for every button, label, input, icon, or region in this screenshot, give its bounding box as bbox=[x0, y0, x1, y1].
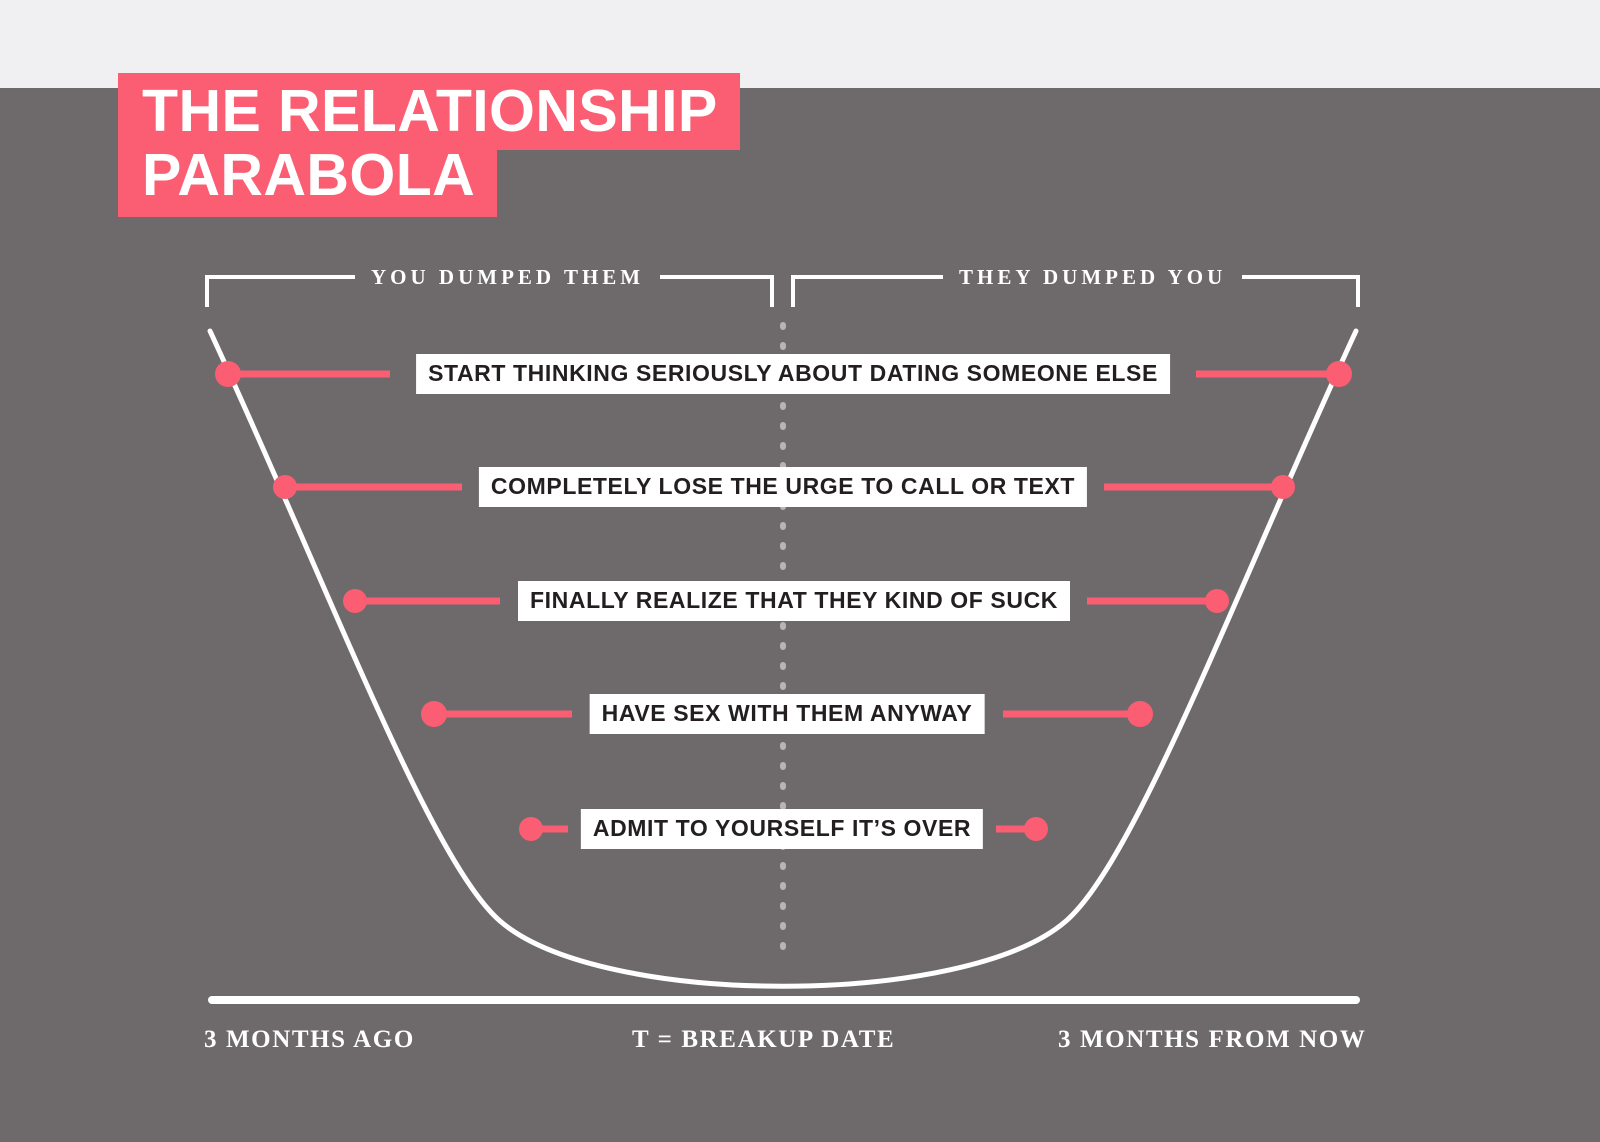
milestone-label-5: ADMIT TO YOURSELF IT’S OVER bbox=[581, 809, 983, 849]
page-title-line-1: THE RELATIONSHIP bbox=[118, 73, 740, 150]
axis-label-breakup-date: T = BREAKUP DATE bbox=[632, 1026, 895, 1054]
milestone-label-2: COMPLETELY LOSE THE URGE TO CALL OR TEXT bbox=[479, 467, 1087, 507]
milestone-label-4: HAVE SEX WITH THEM ANYWAY bbox=[590, 694, 985, 734]
infographic-page: THE RELATIONSHIP PARABOLA YOU DUMPED THE… bbox=[0, 0, 1600, 1142]
axis-label-start: 3 MONTHS AGO bbox=[204, 1026, 415, 1054]
bracket-label-you-dumped-them: YOU DUMPED THEM bbox=[355, 266, 660, 288]
title-block: THE RELATIONSHIP PARABOLA bbox=[118, 73, 740, 217]
axis-label-end: 3 MONTHS FROM NOW bbox=[1058, 1026, 1366, 1054]
bracket-label-they-dumped-you: THEY DUMPED YOU bbox=[943, 266, 1242, 288]
milestone-label-3: FINALLY REALIZE THAT THEY KIND OF SUCK bbox=[518, 581, 1070, 621]
page-title-line-2: PARABOLA bbox=[118, 149, 497, 217]
milestone-label-1: START THINKING SERIOUSLY ABOUT DATING SO… bbox=[416, 354, 1170, 394]
